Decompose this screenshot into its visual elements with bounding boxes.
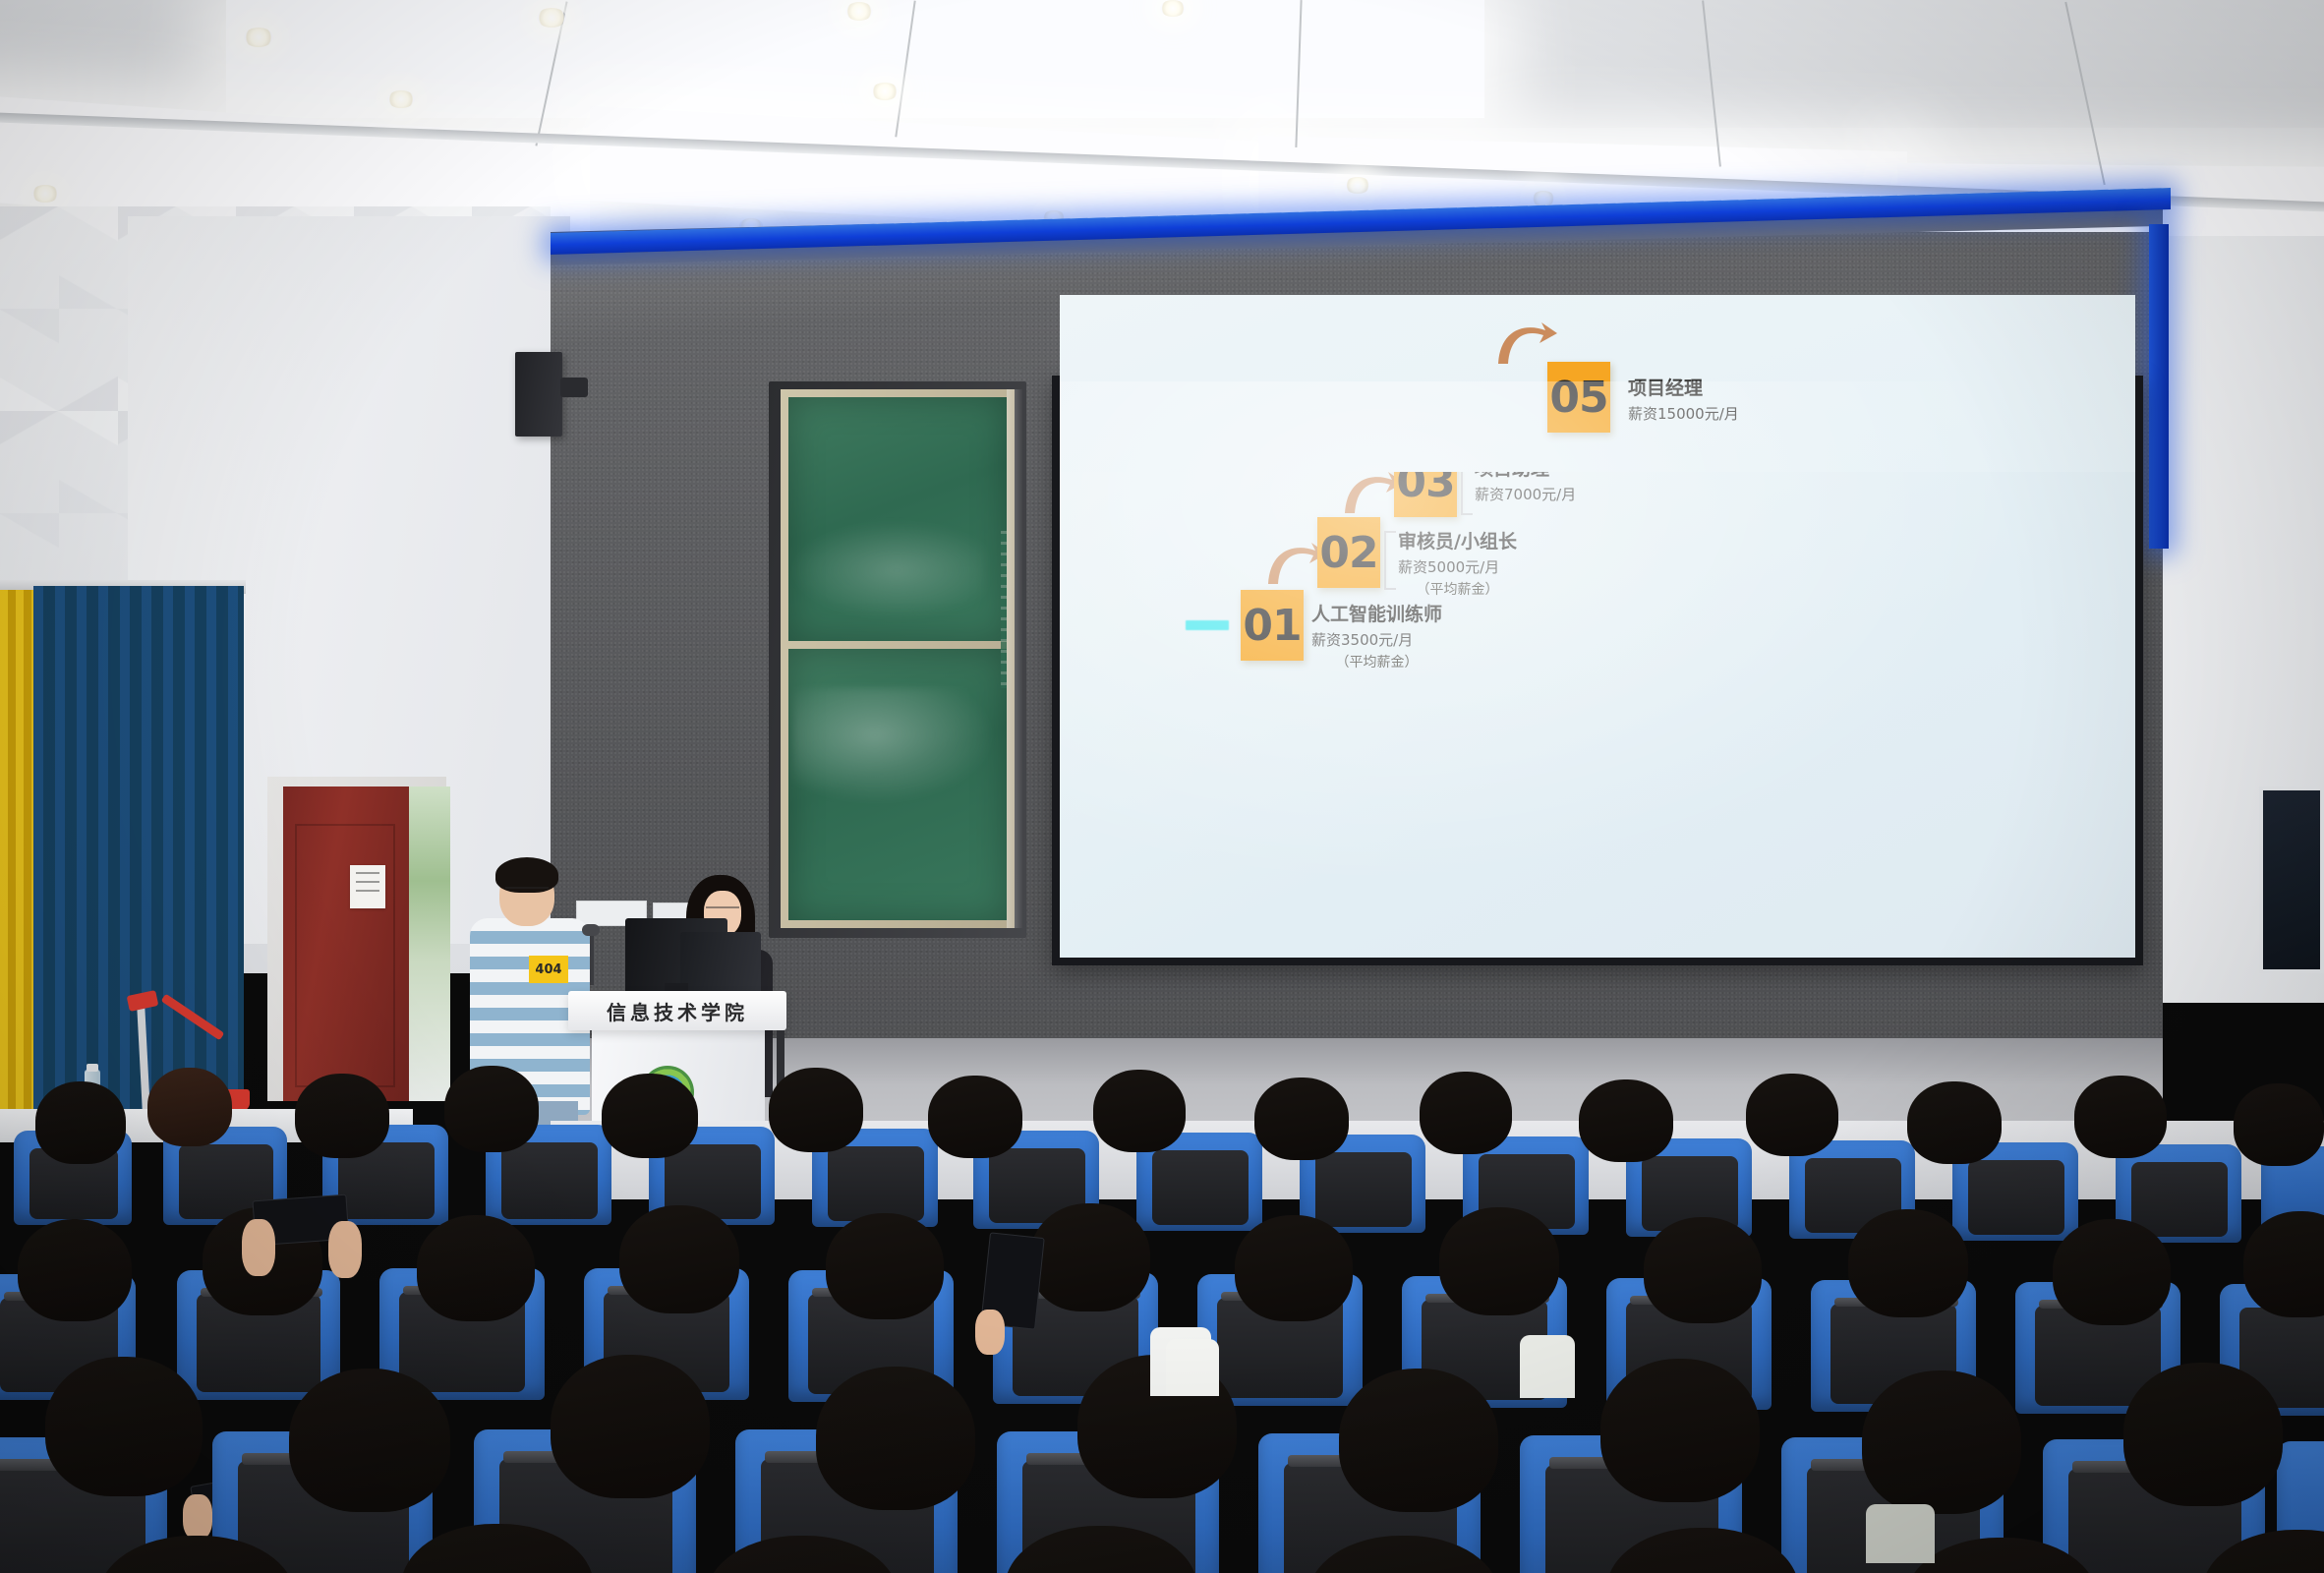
- audience-head: [1600, 1359, 1760, 1502]
- step-number-01: 01: [1243, 601, 1301, 651]
- audience-head: [289, 1369, 450, 1512]
- hand: [242, 1219, 275, 1276]
- microphone-icon: [582, 924, 600, 936]
- audience-shirt: [1166, 1339, 1219, 1396]
- audience-head: [816, 1367, 975, 1510]
- audience-head: [1644, 1217, 1762, 1323]
- audience-head: [35, 1081, 126, 1164]
- hand: [328, 1221, 362, 1278]
- blue-curtain: [33, 586, 244, 1142]
- audience-head: [18, 1219, 132, 1321]
- seat-cushion: [1315, 1152, 1412, 1227]
- audience-head: [2053, 1219, 2171, 1325]
- ceiling-downlight: [537, 8, 566, 28]
- step-salary-02: 薪资5000元/月: [1398, 556, 1517, 577]
- step-role-01: 人工智能训练师: [1311, 600, 1442, 626]
- audience-head: [826, 1213, 944, 1319]
- slide-cyan-marker: [1186, 620, 1229, 630]
- step-label-02: 审核员/小组长 薪资5000元/月 （平均薪金）: [1398, 527, 1517, 599]
- audience-shirt: [1520, 1335, 1575, 1398]
- audience-head: [295, 1074, 389, 1158]
- audience-head: [619, 1205, 739, 1313]
- chalk-smudge: [792, 688, 999, 806]
- audience-head: [602, 1074, 698, 1158]
- audience-head: [1907, 1081, 2002, 1164]
- podium-label: 信息技术学院: [576, 997, 779, 1025]
- slide-upper-overlay: 05 项目经理 薪资15000元/月: [1060, 295, 2135, 472]
- chalk-smudge: [788, 521, 985, 619]
- audience-head: [1235, 1215, 1353, 1321]
- host-glasses-icon: [706, 906, 739, 914]
- audience-head: [2234, 1083, 2324, 1166]
- seat-cushion: [501, 1142, 598, 1219]
- seat-cushion: [1152, 1150, 1249, 1225]
- step-box-01[interactable]: 01: [1241, 590, 1304, 661]
- ceiling-downlight: [871, 83, 899, 100]
- blue-led-strip-right: [2149, 224, 2169, 549]
- step-bracket-02: [1384, 531, 1396, 590]
- audience-head: [417, 1215, 535, 1321]
- blackboard-glare: [1007, 389, 1022, 928]
- step-number-05: 05: [1549, 373, 1607, 423]
- presenter-badge: 404: [529, 956, 568, 983]
- audience-head: [444, 1066, 539, 1152]
- step-label-05: 项目经理 薪资15000元/月: [1628, 374, 1739, 424]
- audience-head: [1579, 1079, 1673, 1162]
- step-salary-03: 薪资7000元/月: [1475, 484, 1576, 504]
- audience-head: [2074, 1076, 2167, 1158]
- presenter-glasses-icon: [505, 887, 549, 896]
- audience-head: [1848, 1209, 1968, 1317]
- ceiling-downlight: [1160, 0, 1186, 17]
- speaker-bracket-icon: [560, 378, 588, 397]
- audience-shirt: [1866, 1504, 1935, 1563]
- step-role-05: 项目经理: [1628, 374, 1739, 400]
- door-paper-sign: [350, 865, 385, 908]
- step-role-02: 审核员/小组长: [1398, 527, 1517, 553]
- audience-head: [1862, 1370, 2021, 1514]
- audience-head: [928, 1076, 1022, 1158]
- bottle-cap: [87, 1064, 98, 1072]
- step-label-01: 人工智能训练师 薪资3500元/月 （平均薪金）: [1311, 600, 1442, 671]
- step-salary-05: 薪资15000元/月: [1628, 403, 1739, 424]
- audience-head: [1254, 1078, 1349, 1160]
- audience-head: [1439, 1207, 1559, 1315]
- step-note-02: （平均薪金）: [1398, 579, 1517, 599]
- wall-speaker: [515, 352, 562, 437]
- audience-head: [2123, 1363, 2283, 1506]
- ceiling-downlight: [1345, 177, 1370, 194]
- podium-monitor-secondary: [680, 932, 761, 995]
- audience-area: [0, 1091, 2324, 1573]
- ceiling-downlight: [845, 2, 873, 21]
- step-box-05[interactable]: 05: [1547, 362, 1610, 433]
- doorway-outside-view: [407, 786, 450, 1101]
- audience-head: [769, 1068, 863, 1152]
- wall-display-panel: [2259, 786, 2324, 973]
- audience-head: [2243, 1211, 2324, 1317]
- step-note-01: （平均薪金）: [1311, 652, 1442, 671]
- ceiling-downlight: [387, 90, 415, 108]
- audience-head: [1030, 1203, 1150, 1311]
- step-salary-01: 薪资3500元/月: [1311, 629, 1442, 650]
- audience-head: [1093, 1070, 1186, 1152]
- ceiling-downlight: [244, 28, 273, 47]
- audience-head: [1339, 1369, 1498, 1512]
- microphone-stem: [590, 932, 594, 985]
- audience-head: [45, 1357, 203, 1496]
- step-number-02: 02: [1319, 528, 1377, 578]
- hand: [183, 1494, 212, 1540]
- lecture-hall-photo: 职业规划 01 人工智能训练师 薪资3500元/月 （平均薪金） 02 审核员/…: [0, 0, 2324, 1573]
- seat-cushion: [828, 1146, 924, 1221]
- audience-head: [551, 1355, 710, 1498]
- audience-head: [1746, 1074, 1838, 1156]
- audience-head: [1420, 1072, 1512, 1154]
- door-panel-molding: [295, 824, 395, 1087]
- seat-cushion: [2131, 1162, 2228, 1237]
- seat-cushion: [1968, 1160, 2064, 1235]
- arrow-step-04-to-05: [1494, 317, 1559, 366]
- step-box-02[interactable]: 02: [1317, 517, 1380, 588]
- ceiling-downlight: [31, 185, 59, 203]
- hand: [975, 1310, 1005, 1355]
- audience-head: [147, 1068, 232, 1146]
